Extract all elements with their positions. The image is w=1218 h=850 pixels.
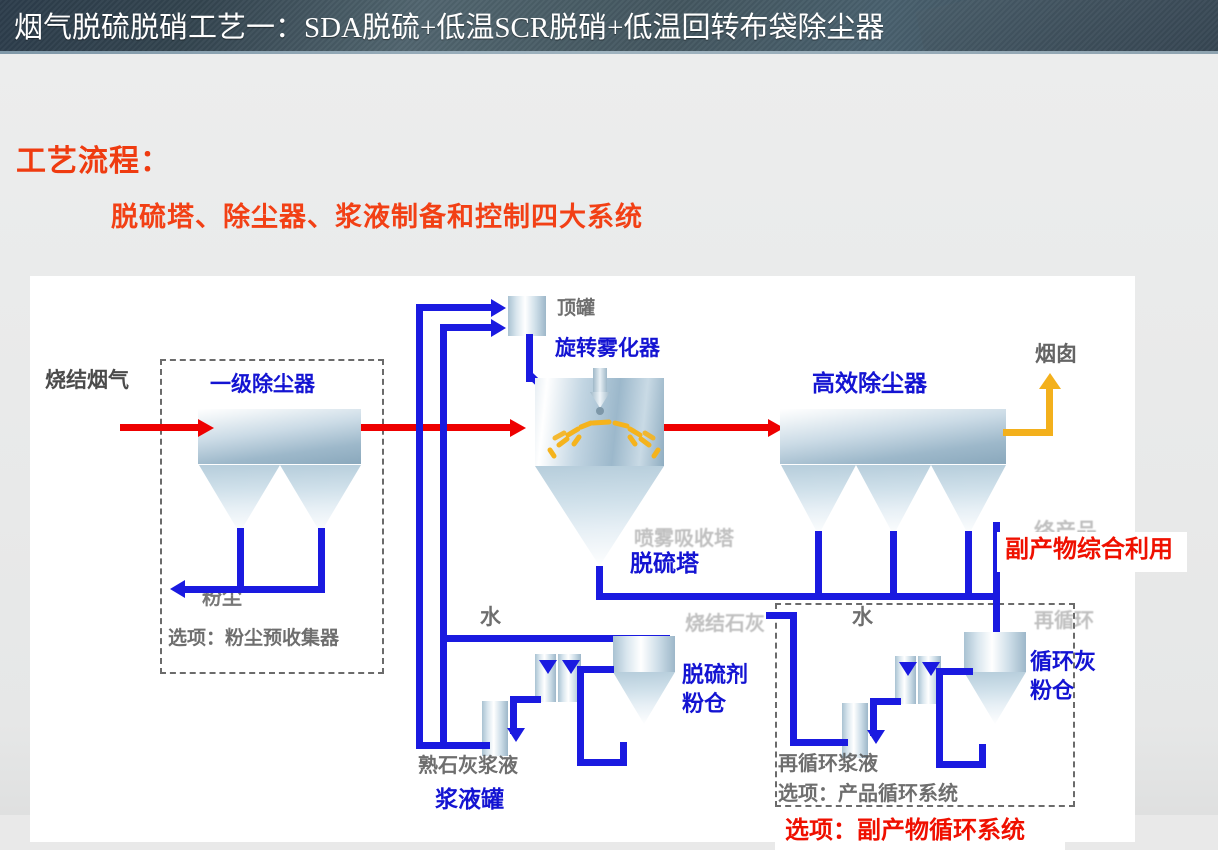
ash-drop-line-2 (890, 531, 897, 599)
desulfurizer-silo-body (613, 636, 675, 672)
inlet-label: 烧结烟气 (45, 370, 129, 391)
title-bar: 烟气脱硫脱硝工艺一：SDA脱硫+低温SCR脱硝+低温回转布袋除尘器 (0, 0, 1218, 53)
recirculation-faded-label: 再循环 (1034, 611, 1094, 631)
high-eff-hopper-1 (781, 465, 856, 535)
flue-gas-line-1 (361, 424, 516, 431)
water-left-label: 水 (480, 607, 501, 628)
dust-out-arrow (170, 580, 185, 598)
feed-riser-arrow-1 (491, 299, 506, 317)
slurry-transfer-arrow (507, 728, 525, 742)
high-eff-collector-label: 高效除尘器 (812, 372, 927, 395)
section-subtitle: 脱硫塔、除尘器、浆液制备和控制四大系统 (111, 195, 643, 234)
product-cycle-option-label: 选项：产品循环系统 (778, 784, 958, 804)
flue-gas-arrow-1 (510, 419, 526, 437)
atomizer-nozzle (593, 368, 607, 394)
desulfurizer-silo-label-1: 脱硫剂 (682, 664, 748, 686)
top-tank-label: 顶罐 (557, 299, 595, 318)
flue-gas-inlet-line (120, 424, 206, 431)
rotary-atomizer-label: 旋转雾化器 (555, 338, 660, 359)
slurry-transfer-horizontal (510, 696, 541, 703)
recycle-transfer-horizontal (870, 698, 901, 705)
dust-drop-line-1 (237, 528, 244, 592)
slurry-tank-out-line (416, 742, 490, 749)
ash-drop-line-3 (965, 531, 972, 599)
stack-label: 烟囱 (1035, 344, 1077, 365)
precollector-label: 一级除尘器 (210, 374, 315, 395)
feed-riser-top-2 (440, 324, 494, 331)
desulfurizer-silo-label-2: 粉仓 (682, 693, 726, 715)
desulfur-tower-label: 脱硫塔 (630, 552, 699, 575)
top-tank (508, 296, 546, 336)
ash-drop-line-1 (815, 531, 822, 599)
product-cycle-option-box (775, 603, 1075, 807)
byproduct-cycle-option-label: 选项：副产物循环系统 (785, 819, 1025, 843)
recycle-slurry-out-bottom (790, 739, 848, 746)
recycle-slurry-label: 再循环浆液 (778, 754, 878, 774)
high-eff-hopper-2 (856, 465, 931, 535)
slurry-tank-label: 浆液罐 (435, 788, 504, 811)
ash-bus-line (596, 593, 1000, 600)
ash-silo-label-1: 循环灰 (1030, 651, 1096, 673)
dust-drop-line-2 (318, 528, 325, 592)
precollector-body (198, 409, 361, 464)
ash-silo-outlet-vertical (936, 668, 943, 768)
page-title: 烟气脱硫脱硝工艺一：SDA脱硫+低温SCR脱硝+低温回转布袋除尘器 (14, 4, 885, 46)
slurry-mixer-arrow-1 (539, 660, 557, 674)
ash-silo-return-vertical (979, 744, 986, 768)
silo-outlet-vertical (577, 666, 584, 766)
recycle-slurry-tank-cyl (842, 703, 868, 758)
spray-absorber-faded-label: 喷雾吸收塔 (634, 529, 734, 549)
slide-body: 工艺流程： 脱硫塔、除尘器、浆液制备和控制四大系统 一级除尘器 烧结烟气 粉尘 … (0, 54, 1218, 815)
feed-riser-line-1 (416, 304, 423, 749)
ash-silo-label-2: 粉仓 (1030, 680, 1074, 702)
spray-pattern-icon (535, 406, 667, 468)
recycle-transfer-arrow (867, 730, 885, 744)
byproduct-use-label: 副产物综合利用 (1005, 538, 1173, 562)
precollector-option-label: 选项：粉尘预收集器 (168, 629, 339, 648)
silo-return-vertical (620, 742, 627, 766)
process-flow-diagram: 一级除尘器 烧结烟气 粉尘 选项：粉尘预收集器 顶罐 旋转雾化器 (30, 276, 1135, 842)
recycle-slurry-out-top (766, 612, 797, 619)
sintered-lime-faded-label: 烧结石灰 (685, 614, 765, 634)
precollector-option-box (160, 359, 384, 674)
water-right-label: 水 (852, 607, 873, 628)
recycle-slurry-out-vertical (790, 612, 797, 746)
slaked-lime-slurry-label: 熟石灰浆液 (418, 756, 518, 776)
stack-arrow (1039, 373, 1061, 389)
ash-silo-body (964, 632, 1026, 672)
high-eff-collector-body (780, 409, 1006, 464)
feed-riser-top-1 (416, 304, 494, 311)
section-title: 工艺流程： (16, 136, 171, 180)
tower-ash-drop-line (596, 566, 603, 596)
dust-out-line (185, 586, 325, 593)
stack-line-vertical (1046, 388, 1053, 436)
feed-riser-arrow-2 (491, 319, 506, 337)
feed-riser-line-2 (440, 324, 447, 749)
flue-gas-line-2 (664, 424, 772, 431)
desulfurizer-silo-cone (613, 672, 675, 724)
recycle-mixer-arrow-1 (899, 662, 917, 676)
flue-gas-inlet-arrow (198, 419, 214, 437)
